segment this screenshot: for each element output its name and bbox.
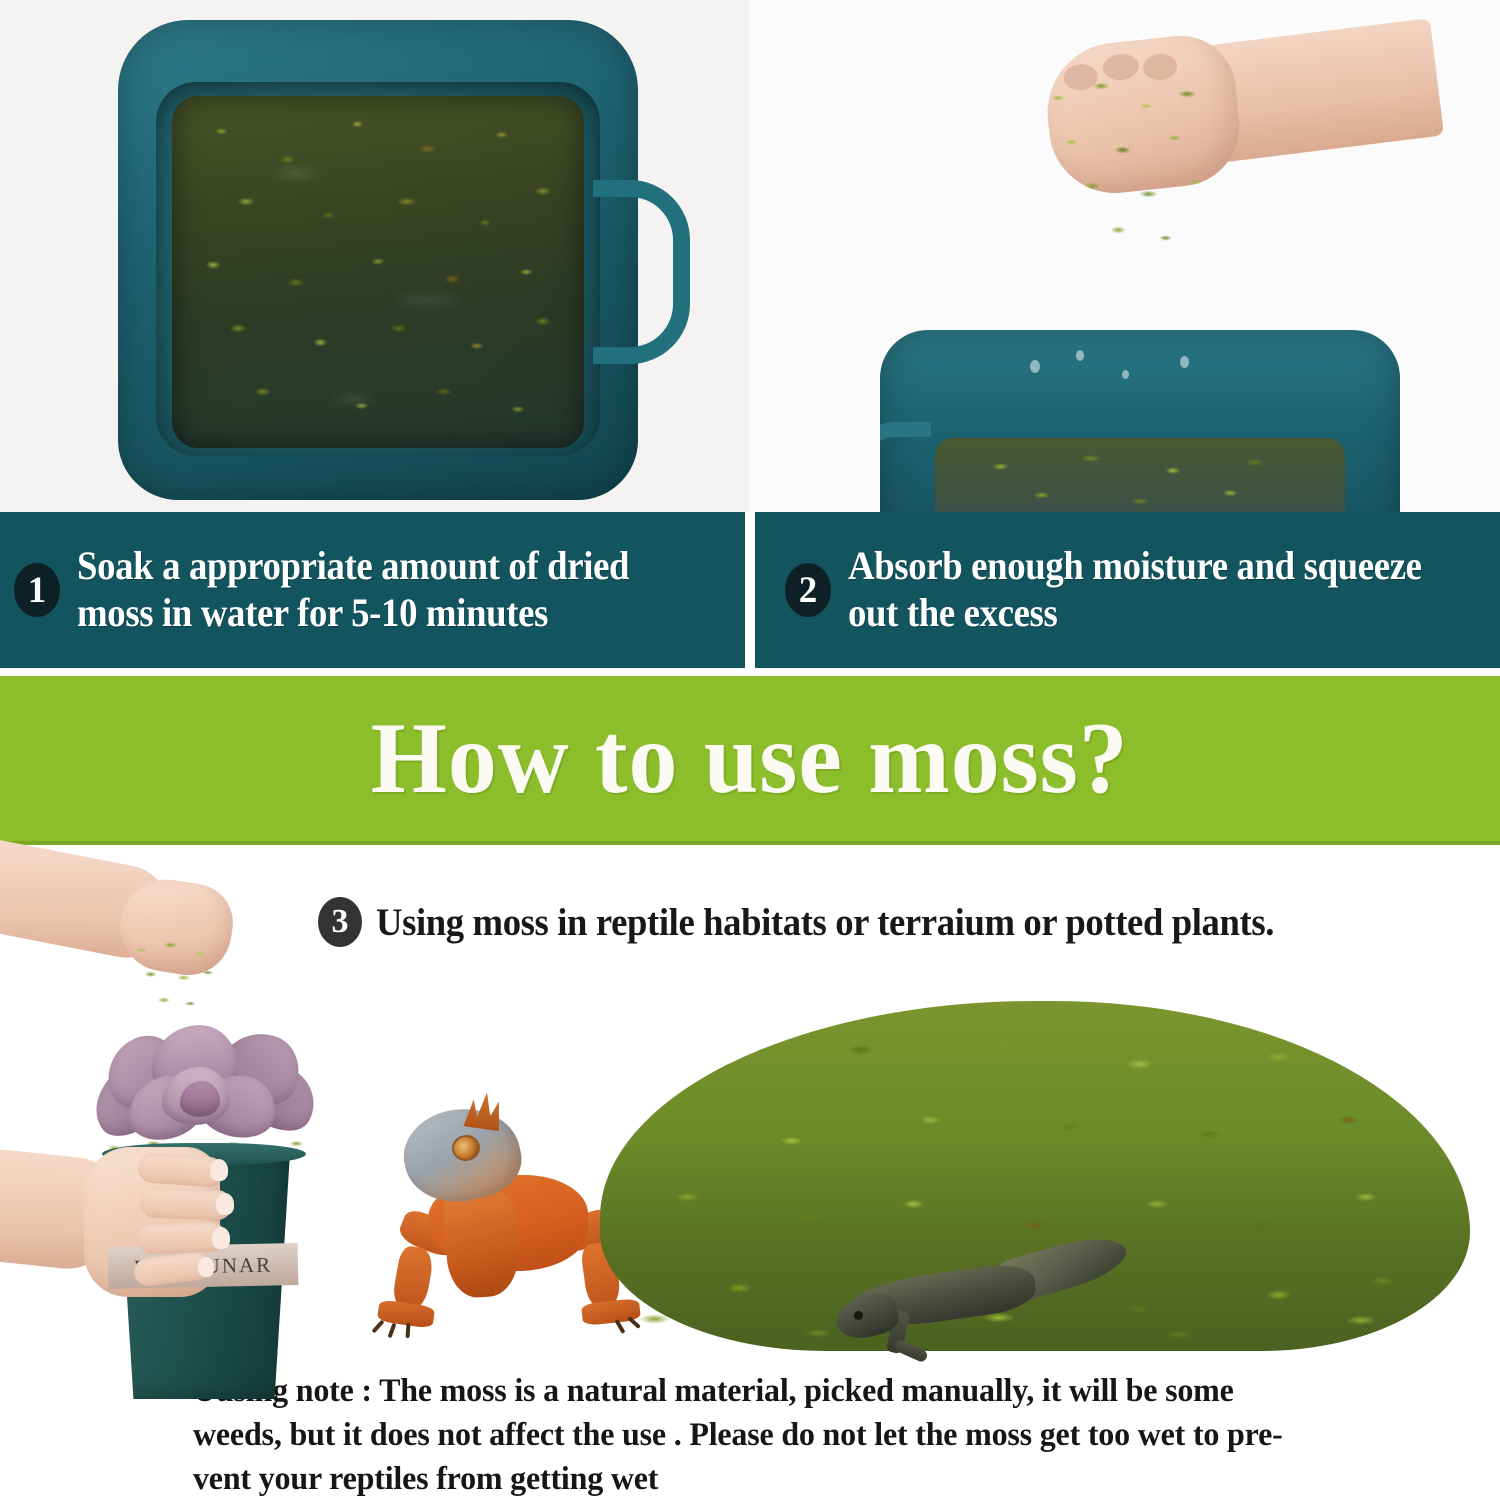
step-2-caption: 2 Absorb enough moisture and squeeze out… — [755, 512, 1500, 668]
basin-with-moss-water — [880, 330, 1400, 512]
step-number-badge-2: 2 — [785, 563, 831, 617]
note-line-2: weeds, but it does not affect the use . … — [193, 1413, 1386, 1457]
iguana-dewlap — [442, 1191, 521, 1300]
soaking-basin-image — [118, 20, 638, 500]
step1-photo — [0, 0, 750, 512]
step-3-caption: 3 Using moss in reptile habitats or terr… — [318, 897, 1331, 947]
salamander-eye — [854, 1311, 863, 1320]
salamander-image — [838, 1239, 1128, 1369]
caption-row: 1 Soak a appropriate amount of dried mos… — [0, 512, 1500, 668]
step2-photo — [750, 0, 1500, 512]
note-line-3: vent your reptiles from getting wet — [193, 1457, 1386, 1501]
moss-clump — [122, 933, 232, 1019]
page-title: How to use moss? — [371, 708, 1129, 810]
step3-section: 3 Using moss in reptile habitats or terr… — [0, 849, 1500, 1477]
step-1-text: Soak a appropriate amount of dried moss … — [77, 543, 692, 637]
squeezing-hand-image — [988, 18, 1318, 248]
step-2-text: Absorb enough moisture and squeeze out t… — [848, 543, 1448, 637]
moss-in-water — [935, 438, 1345, 512]
soaked-moss — [172, 96, 584, 448]
hand-dropping-moss-image — [0, 855, 252, 1035]
step-3-text: Using moss in reptile habitats or terrai… — [376, 900, 1274, 945]
fist — [1041, 30, 1246, 199]
infographic-page: 1 Soak a appropriate amount of dried mos… — [0, 0, 1500, 1477]
step-number-badge-3: 3 — [318, 897, 362, 947]
usage-note: Uusing note : The moss is a natural mate… — [193, 1369, 1423, 1502]
title-banner: How to use moss? — [0, 676, 1500, 845]
step-number-badge-1: 1 — [14, 563, 60, 617]
basin-interior — [156, 82, 600, 456]
note-line-1: Uusing note : The moss is a natural mate… — [193, 1369, 1386, 1413]
step-1-caption: 1 Soak a appropriate amount of dried mos… — [0, 512, 745, 668]
photo-row-top — [0, 0, 1500, 512]
